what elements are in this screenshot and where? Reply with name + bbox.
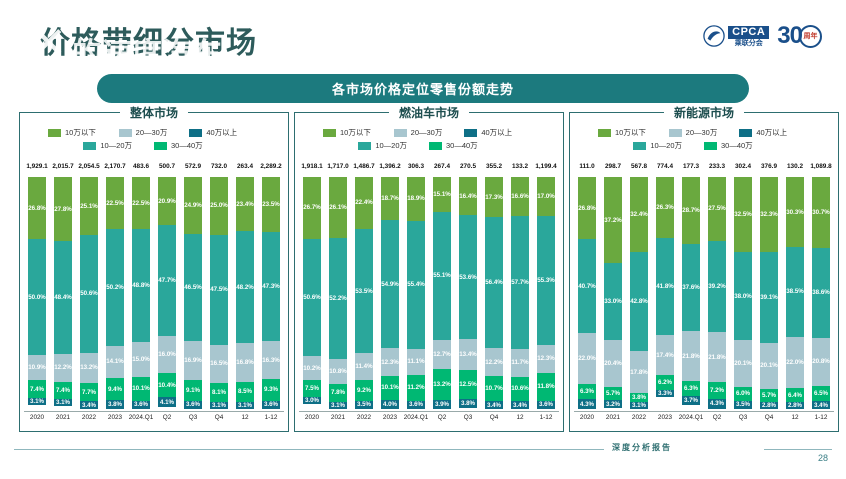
bar-segment: 6.0% [734, 387, 753, 401]
bar-segment: 26.8% [578, 177, 597, 239]
bar-segment: 3.8% [106, 400, 125, 409]
bar-segment: 7.4% [54, 382, 73, 399]
total-value: 2,289.2 [258, 163, 284, 175]
bar-segment: 3.2% [604, 400, 623, 407]
bar-segment: 13.2% [433, 369, 452, 400]
legend-swatch-icon [189, 129, 202, 137]
chart-panels: 整体市场10万以下20—30万40万以上10—20万30—40万1,929.12… [0, 112, 846, 434]
bar-segment: 38.5% [786, 247, 805, 336]
bar-segment: 10.1% [132, 377, 151, 400]
bar-segment: 32.3% [760, 177, 779, 252]
bar-segment: 3.6% [132, 401, 151, 409]
legend-swatch-icon [633, 142, 646, 150]
x-tick-label: 2020 [574, 412, 600, 426]
legend-swatch-icon [669, 129, 682, 137]
bar-column[interactable]: 22.4%53.5%11.4%9.2%3.5% [351, 177, 377, 409]
bar-segment: 3.6% [262, 401, 281, 409]
bar-segment: 22.5% [132, 177, 151, 229]
bar-column[interactable]: 26.3%41.8%17.4%6.2%3.3% [652, 177, 678, 409]
bar-segment: 53.6% [459, 215, 478, 339]
bar-segment: 17.0% [537, 177, 556, 216]
total-value: 1,089.8 [808, 163, 834, 175]
bar-segment: 6.3% [578, 384, 597, 399]
stacked-bar: 30.3%38.5%22.0%6.4%2.8% [786, 177, 805, 409]
bar-segment: 16.3% [262, 341, 281, 379]
slide-root: 价格带细分市场 ✕ 的速度汽车 CPCA 乘联分会 30 周年 各市场价格定位零… [0, 0, 846, 479]
bar-segment: 15.1% [433, 177, 452, 212]
legend-item[interactable]: 20—30万 [394, 127, 465, 138]
bar-column[interactable]: 17.0%55.3%12.3%11.8%3.6% [533, 177, 559, 409]
stacked-bar: 26.1%52.2%10.8%7.8%3.1% [329, 177, 348, 409]
bar-segment: 3.0% [303, 397, 322, 404]
chart-legend: 10万以下20—30万40万以上10—20万30—40万 [20, 127, 288, 151]
bar-segment: 10.4% [158, 373, 177, 397]
x-tick-label: 12 [507, 412, 533, 426]
legend-label: 20—30万 [136, 127, 168, 138]
legend-swatch-icon [464, 129, 477, 137]
total-value: 1,717.0 [325, 163, 351, 175]
bar-segment: 47.7% [158, 225, 177, 336]
bar-segment: 7.5% [303, 380, 322, 397]
bar-segment: 9.1% [184, 380, 203, 401]
x-tick-label: Q3 [730, 412, 756, 426]
legend-item[interactable]: 10—20万 [633, 140, 704, 151]
bar-column[interactable]: 32.5%38.0%20.1%6.0%3.5% [730, 177, 756, 409]
bar-segment: 2.8% [760, 402, 779, 408]
bar-segment: 50.0% [28, 239, 47, 355]
bar-segment: 20.1% [734, 340, 753, 387]
stacked-bar: 32.3%39.1%20.1%5.7%2.8% [760, 177, 779, 409]
anniversary-label: 周年 [804, 31, 818, 41]
bar-segment: 14.1% [106, 346, 125, 379]
stacked-bar: 23.5%47.3%16.3%9.3%3.6% [262, 177, 281, 409]
bar-segment: 50.6% [303, 239, 322, 356]
total-value: 500.7 [154, 163, 180, 175]
bar-segment: 25.1% [80, 177, 99, 235]
bar-segment: 17.3% [485, 177, 504, 217]
legend-item[interactable]: 20—30万 [119, 127, 190, 138]
total-value: 263.4 [232, 163, 258, 175]
chart-panel-1: 燃油车市场10万以下20—30万40万以上10—20万30—40万1,918.1… [294, 112, 564, 432]
bar-column[interactable]: 27.5%39.2%21.8%7.2%4.3% [704, 177, 730, 409]
x-axis: 20202021202220232024.Q1Q2Q3Q4121-12 [574, 411, 834, 426]
total-value: 111.0 [574, 163, 600, 175]
stacked-bar: 32.5%38.0%20.1%6.0%3.5% [734, 177, 753, 409]
bar-segment: 18.9% [407, 177, 426, 221]
stacked-bar: 28.7%37.6%21.8%6.3%3.7% [682, 177, 701, 409]
chart-legend: 10万以下20—30万40万以上10—20万30—40万 [570, 127, 838, 151]
x-tick-label: 12 [232, 412, 258, 426]
bar-column[interactable]: 26.8%50.0%10.9%7.4%3.1% [24, 177, 50, 409]
bar-segment: 20.1% [760, 343, 779, 390]
bar-segment: 9.3% [262, 379, 281, 401]
bar-segment: 21.8% [708, 332, 727, 383]
legend-item[interactable]: 10万以下 [323, 127, 394, 138]
x-tick-label: Q4 [756, 412, 782, 426]
plot-area: 26.8%40.7%22.0%6.3%4.3%37.2%33.0%20.4%5.… [574, 177, 834, 409]
bar-segment: 15.0% [132, 342, 151, 377]
stacked-bar: 22.5%50.2%14.1%9.4%3.8% [106, 177, 125, 409]
bar-segment: 25.0% [210, 177, 229, 235]
stacked-bar: 26.3%41.8%17.4%6.2%3.3% [656, 177, 675, 409]
bar-segment: 11.1% [407, 349, 426, 375]
stacked-bar: 22.5%48.8%15.0%10.1%3.6% [132, 177, 151, 409]
bar-segment: 55.4% [407, 221, 426, 349]
legend-label: 10万以下 [65, 127, 96, 138]
bar-segment: 10.2% [303, 356, 322, 380]
bar-column[interactable]: 32.3%39.1%20.1%5.7%2.8% [756, 177, 782, 409]
bar-segment: 12.7% [433, 340, 452, 369]
total-value: 270.5 [455, 163, 481, 175]
bar-segment: 3.9% [433, 400, 452, 409]
total-value: 355.2 [481, 163, 507, 175]
bar-segment: 10.8% [329, 359, 348, 384]
stacked-bar: 32.4%42.8%17.8%3.8%3.1% [630, 177, 649, 409]
x-tick-label: 2022 [626, 412, 652, 426]
total-value: 774.4 [652, 163, 678, 175]
bar-segment: 3.1% [28, 398, 47, 405]
bar-column[interactable]: 25.1%50.6%13.2%7.7%3.4% [76, 177, 102, 409]
bar-column[interactable]: 18.9%55.4%11.1%11.2%3.6% [403, 177, 429, 409]
bar-segment: 3.5% [355, 401, 374, 409]
panel-title: 燃油车市场 [389, 104, 469, 121]
legend-swatch-icon [394, 129, 407, 137]
x-tick-label: Q3 [455, 412, 481, 426]
bar-column[interactable]: 26.1%52.2%10.8%7.8%3.1% [325, 177, 351, 409]
bar-segment: 26.7% [303, 177, 322, 239]
bar-segment: 52.2% [329, 238, 348, 359]
plot-area: 26.8%50.0%10.9%7.4%3.1%27.8%48.4%12.2%7.… [24, 177, 284, 409]
total-value: 1,486.7 [351, 163, 377, 175]
bar-segment: 28.7% [682, 177, 701, 244]
bar-column[interactable]: 16.6%57.7%11.7%10.6%3.4% [507, 177, 533, 409]
bar-column[interactable]: 22.5%48.8%15.0%10.1%3.6% [128, 177, 154, 409]
bar-segment: 55.1% [433, 212, 452, 340]
bar-segment: 3.6% [184, 401, 203, 409]
bar-column[interactable]: 18.7%54.9%12.3%10.1%4.0% [377, 177, 403, 409]
cpca-acronym: CPCA [728, 26, 769, 39]
bar-segment: 3.1% [329, 402, 348, 409]
bar-segment: 11.2% [407, 375, 426, 401]
x-axis: 20202021202220232024.Q1Q2Q3Q4121-12 [24, 411, 284, 426]
footer: 深度分析报告 28 [0, 439, 846, 465]
bar-segment: 38.0% [734, 252, 753, 340]
bar-segment: 3.8% [459, 399, 478, 408]
bar-segment: 23.5% [262, 177, 281, 232]
bar-segment: 10.7% [485, 376, 504, 401]
legend-swatch-icon [429, 142, 442, 150]
bar-segment: 8.1% [210, 383, 229, 402]
bar-segment: 17.8% [630, 351, 649, 392]
bar-segment: 6.3% [682, 381, 701, 396]
bar-segment: 10.9% [28, 355, 47, 380]
legend-label: 20—30万 [411, 127, 443, 138]
totals-row: 111.0298.7567.8774.4177.3233.3302.4376.9… [574, 163, 834, 175]
bar-segment: 3.6% [407, 401, 426, 409]
stacked-bar: 16.4%53.6%13.4%12.5%3.8% [459, 177, 478, 409]
page-number: 28 [818, 453, 828, 463]
bar-segment: 48.4% [54, 241, 73, 353]
x-tick-label: 2021 [50, 412, 76, 426]
panel-title: 新能源市场 [664, 104, 744, 121]
x-tick-label: Q2 [429, 412, 455, 426]
bar-segment: 20.8% [812, 338, 831, 386]
bar-segment: 3.5% [734, 401, 753, 409]
bar-segment: 37.6% [682, 244, 701, 331]
bar-segment: 13.2% [80, 353, 99, 384]
legend-label: 10—20万 [100, 140, 132, 151]
bar-column[interactable]: 24.9%46.5%16.9%9.1%3.6% [180, 177, 206, 409]
bar-segment: 7.8% [329, 384, 348, 402]
bar-segment: 4.1% [158, 397, 177, 407]
bar-column[interactable]: 30.7%38.6%20.8%6.5%3.4% [808, 177, 834, 409]
legend-swatch-icon [358, 142, 371, 150]
total-value: 376.9 [756, 163, 782, 175]
bar-column[interactable]: 27.8%48.4%12.2%7.4%3.1% [50, 177, 76, 409]
total-value: 267.4 [429, 163, 455, 175]
stacked-bar: 27.8%48.4%12.2%7.4%3.1% [54, 177, 73, 409]
legend-label: 30—40万 [721, 140, 753, 151]
bar-segment: 16.9% [184, 341, 203, 380]
bar-segment: 48.2% [236, 231, 255, 343]
legend-swatch-icon [598, 129, 611, 137]
bar-segment: 18.7% [381, 177, 400, 220]
total-value: 567.8 [626, 163, 652, 175]
bar-segment: 3.8% [630, 393, 649, 402]
bar-segment: 11.8% [537, 373, 556, 400]
bar-segment: 21.8% [682, 331, 701, 382]
bar-segment: 50.6% [80, 235, 99, 352]
legend-item[interactable]: 40万以上 [189, 127, 260, 138]
chart-panel-0: 整体市场10万以下20—30万40万以上10—20万30—40万1,929.12… [19, 112, 289, 432]
bar-segment: 10.6% [511, 377, 530, 402]
legend-swatch-icon [83, 142, 96, 150]
bird-icon [703, 25, 725, 47]
bar-column[interactable]: 30.3%38.5%22.0%6.4%2.8% [782, 177, 808, 409]
bar-column[interactable]: 32.4%42.8%17.8%3.8%3.1% [626, 177, 652, 409]
legend-item[interactable]: 40万以上 [739, 127, 810, 138]
bar-segment: 4.0% [381, 400, 400, 409]
bar-segment: 5.7% [760, 389, 779, 402]
legend-swatch-icon [154, 142, 167, 150]
stacked-bar: 23.4%48.2%16.8%8.5%3.1% [236, 177, 255, 409]
total-value: 1,918.1 [299, 163, 325, 175]
x-tick-label: 2022 [76, 412, 102, 426]
stacked-bar: 25.1%50.6%13.2%7.7%3.4% [80, 177, 99, 409]
bar-segment: 27.8% [54, 177, 73, 241]
bar-segment: 17.4% [656, 335, 675, 375]
legend-item[interactable]: 10万以下 [48, 127, 119, 138]
x-tick-label: 2020 [24, 412, 50, 426]
stacked-bar: 18.7%54.9%12.3%10.1%4.0% [381, 177, 400, 409]
x-tick-label: 2020 [299, 412, 325, 426]
x-tick-label: 1-12 [808, 412, 834, 426]
bar-segment: 11.4% [355, 353, 374, 379]
bar-segment: 26.3% [656, 177, 675, 238]
bar-segment: 26.8% [28, 177, 47, 239]
legend-item[interactable]: 40万以上 [464, 127, 535, 138]
bar-segment: 16.6% [511, 177, 530, 216]
bar-column[interactable]: 26.7%50.6%10.2%7.5%3.0% [299, 177, 325, 409]
x-tick-label: 1-12 [258, 412, 284, 426]
bar-segment: 22.0% [578, 333, 597, 384]
stacked-bar: 17.3%56.4%12.2%10.7%3.4% [485, 177, 504, 409]
legend-label: 10万以下 [340, 127, 371, 138]
bar-column[interactable]: 20.9%47.7%16.0%10.4%4.1% [154, 177, 180, 409]
x-tick-label: 1-12 [533, 412, 559, 426]
legend-item[interactable]: 30—40万 [429, 140, 500, 151]
legend-label: 10—20万 [375, 140, 407, 151]
x-tick-label: 2024.Q1 [403, 412, 429, 426]
bar-segment: 22.4% [355, 177, 374, 229]
stacked-bar: 30.7%38.6%20.8%6.5%3.4% [812, 177, 831, 409]
bar-segment: 56.4% [485, 217, 504, 348]
bar-segment: 7.7% [80, 383, 99, 401]
bar-segment: 40.7% [578, 239, 597, 333]
bar-column[interactable]: 23.4%48.2%16.8%8.5%3.1% [232, 177, 258, 409]
bar-segment: 46.5% [184, 234, 203, 341]
x-tick-label: Q4 [481, 412, 507, 426]
x-tick-label: Q3 [180, 412, 206, 426]
stacked-bar: 15.1%55.1%12.7%13.2%3.9% [433, 177, 452, 409]
cpca-logo: CPCA 乘联分会 [703, 25, 769, 47]
bar-column[interactable]: 17.3%56.4%12.2%10.7%3.4% [481, 177, 507, 409]
bar-segment: 3.1% [210, 402, 229, 409]
bar-segment: 6.2% [656, 375, 675, 389]
stacked-bar: 16.6%57.7%11.7%10.6%3.4% [511, 177, 530, 409]
total-value: 732.0 [206, 163, 232, 175]
bar-segment: 47.3% [262, 232, 281, 342]
bar-segment: 6.4% [786, 388, 805, 403]
bar-column[interactable]: 15.1%55.1%12.7%13.2%3.9% [429, 177, 455, 409]
chart-panel-2: 新能源市场10万以下20—30万40万以上10—20万30—40万111.029… [569, 112, 839, 432]
bar-column[interactable]: 37.2%33.0%20.4%5.7%3.2% [600, 177, 626, 409]
legend-item[interactable]: 20—30万 [669, 127, 740, 138]
bar-segment: 57.7% [511, 216, 530, 350]
stacked-bar: 37.2%33.0%20.4%5.7%3.2% [604, 177, 623, 409]
bar-segment: 9.2% [355, 380, 374, 401]
bar-segment: 27.5% [708, 177, 727, 241]
bar-segment: 50.2% [106, 229, 125, 345]
bar-segment: 3.7% [682, 396, 701, 405]
stacked-bar: 26.7%50.6%10.2%7.5%3.0% [303, 177, 322, 409]
bar-segment: 33.0% [604, 263, 623, 340]
bar-segment: 16.5% [210, 345, 229, 383]
total-value: 2,054.5 [76, 163, 102, 175]
total-value: 130.2 [782, 163, 808, 175]
x-tick-label: 2021 [600, 412, 626, 426]
x-tick-label: 2023 [102, 412, 128, 426]
bar-segment: 39.1% [760, 252, 779, 343]
legend-item[interactable]: 10万以下 [598, 127, 669, 138]
bar-segment: 41.8% [656, 238, 675, 335]
stacked-bar: 20.9%47.7%16.0%10.4%4.1% [158, 177, 177, 409]
bar-segment: 22.5% [106, 177, 125, 229]
bar-segment: 3.1% [236, 402, 255, 409]
bar-segment: 26.1% [329, 177, 348, 238]
legend-label: 40万以上 [481, 127, 512, 138]
bar-segment: 12.3% [537, 345, 556, 374]
bar-column[interactable]: 28.7%37.6%21.8%6.3%3.7% [678, 177, 704, 409]
x-tick-label: 2023 [377, 412, 403, 426]
legend-label: 20—30万 [686, 127, 718, 138]
legend-item[interactable]: 30—40万 [704, 140, 775, 151]
bar-segment: 12.2% [485, 348, 504, 376]
logo-group: CPCA 乘联分会 30 周年 [703, 22, 822, 50]
bar-segment: 12.5% [459, 370, 478, 399]
x-tick-label: 2024.Q1 [128, 412, 154, 426]
legend-label: 30—40万 [446, 140, 478, 151]
bar-segment: 30.3% [786, 177, 805, 247]
bar-segment: 7.2% [708, 382, 727, 399]
bar-segment: 9.4% [106, 378, 125, 400]
bar-column[interactable]: 16.4%53.6%13.4%12.5%3.8% [455, 177, 481, 409]
stacked-bar: 25.0%47.5%16.5%8.1%3.1% [210, 177, 229, 409]
total-value: 1,199.4 [533, 163, 559, 175]
stacked-bar: 26.8%50.0%10.9%7.4%3.1% [28, 177, 47, 409]
total-value: 572.9 [180, 163, 206, 175]
bar-segment: 4.3% [708, 399, 727, 409]
chart-legend: 10万以下20—30万40万以上10—20万30—40万 [295, 127, 563, 151]
x-tick-label: 2024.Q1 [678, 412, 704, 426]
bar-column[interactable]: 25.0%47.5%16.5%8.1%3.1% [206, 177, 232, 409]
bar-column[interactable]: 22.5%50.2%14.1%9.4%3.8% [102, 177, 128, 409]
bar-segment: 48.8% [132, 229, 151, 342]
bar-segment: 3.1% [630, 402, 649, 409]
bar-segment: 5.7% [604, 387, 623, 400]
x-tick-label: Q2 [704, 412, 730, 426]
bar-column[interactable]: 26.8%40.7%22.0%6.3%4.3% [574, 177, 600, 409]
total-value: 306.3 [403, 163, 429, 175]
total-value: 133.2 [507, 163, 533, 175]
legend-swatch-icon [48, 129, 61, 137]
bar-segment: 7.4% [28, 380, 47, 397]
total-value: 1,396.2 [377, 163, 403, 175]
bar-segment: 53.5% [355, 229, 374, 353]
bar-segment: 54.9% [381, 220, 400, 347]
legend-swatch-icon [119, 129, 132, 137]
bar-segment: 6.5% [812, 386, 831, 401]
bar-segment: 47.5% [210, 235, 229, 345]
bar-segment: 39.2% [708, 241, 727, 332]
x-axis: 20202021202220232024.Q1Q2Q3Q4121-12 [299, 411, 559, 426]
legend-label: 40万以上 [206, 127, 237, 138]
bar-segment: 16.8% [236, 343, 255, 382]
totals-row: 1,918.11,717.01,486.71,396.2306.3267.427… [299, 163, 559, 175]
bar-segment: 24.9% [184, 177, 203, 234]
bar-segment: 13.4% [459, 339, 478, 370]
bar-segment: 16.4% [459, 177, 478, 215]
legend-swatch-icon [323, 129, 336, 137]
bar-segment: 20.9% [158, 177, 177, 225]
bar-segment: 12.3% [381, 348, 400, 377]
legend-item[interactable]: 10—20万 [83, 140, 154, 151]
legend-item[interactable]: 30—40万 [154, 140, 225, 151]
stacked-bar: 27.5%39.2%21.8%7.2%4.3% [708, 177, 727, 409]
bar-segment: 12.2% [54, 354, 73, 382]
legend-item[interactable]: 10—20万 [358, 140, 429, 151]
bar-segment: 3.4% [511, 401, 530, 409]
stacked-bar: 17.0%55.3%12.3%11.8%3.6% [537, 177, 556, 409]
x-tick-label: Q4 [206, 412, 232, 426]
total-value: 233.3 [704, 163, 730, 175]
bar-segment: 30.7% [812, 177, 831, 248]
stacked-bar: 24.9%46.5%16.9%9.1%3.6% [184, 177, 203, 409]
x-tick-label: 2022 [351, 412, 377, 426]
stacked-bar: 18.9%55.4%11.1%11.2%3.6% [407, 177, 426, 409]
bar-segment: 42.8% [630, 252, 649, 351]
bar-column[interactable]: 23.5%47.3%16.3%9.3%3.6% [258, 177, 284, 409]
